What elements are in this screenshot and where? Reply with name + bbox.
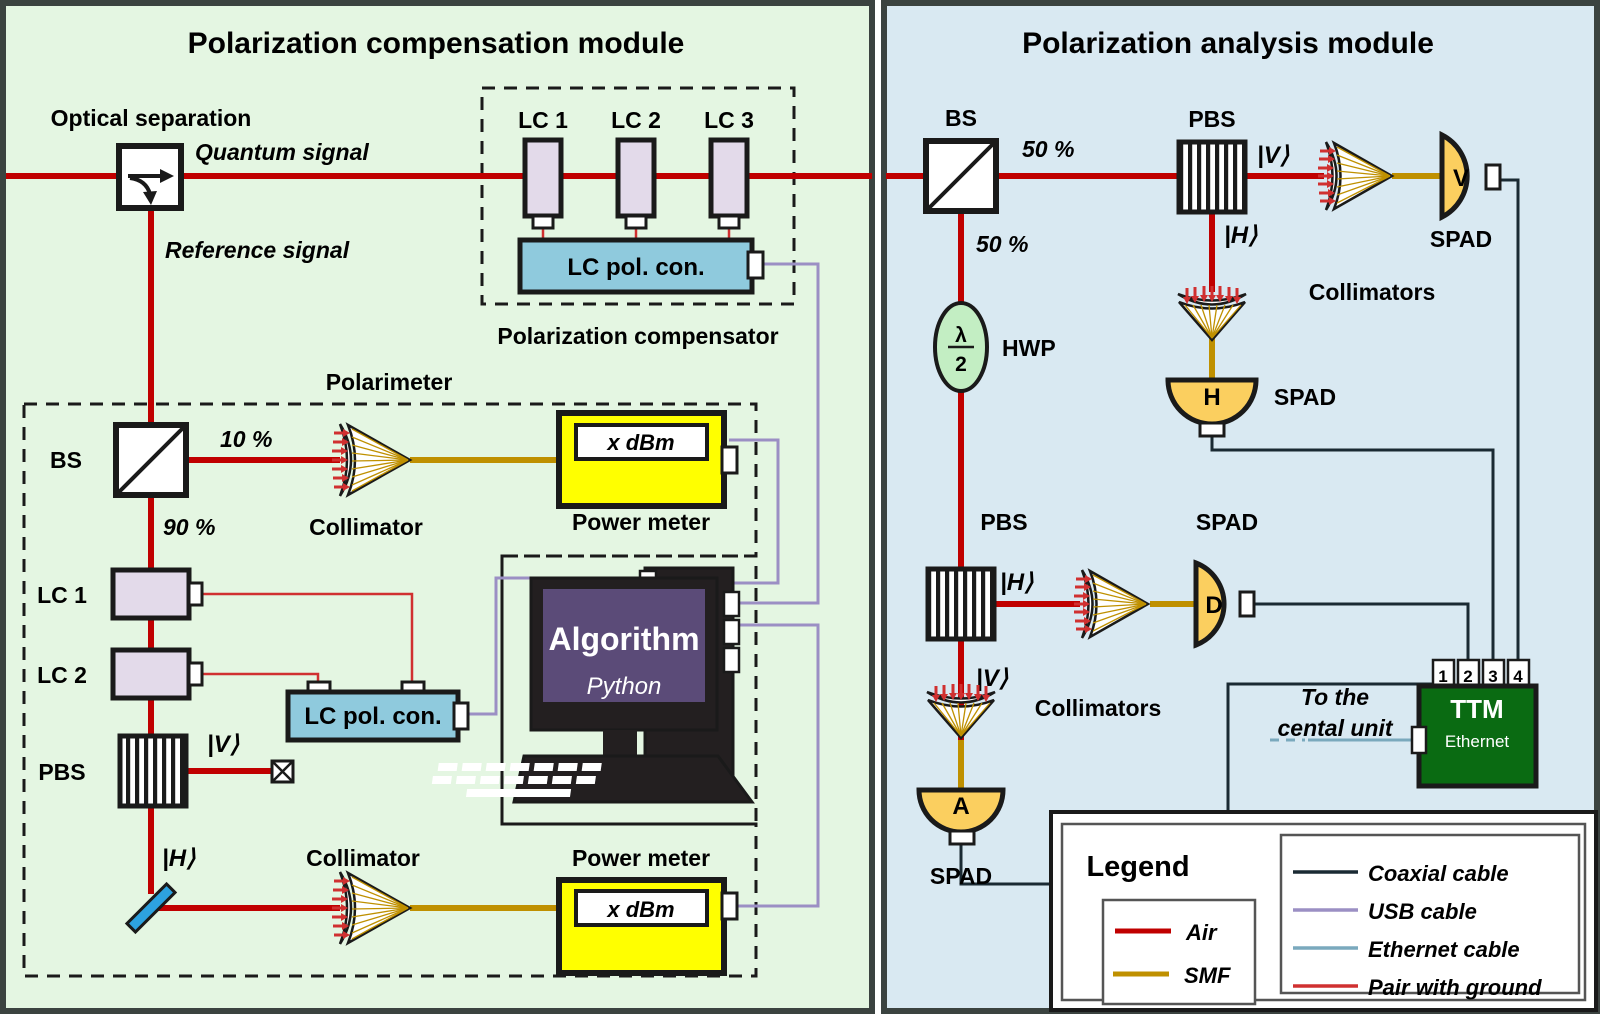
right-bs-split-reflected: 50 % <box>976 231 1028 257</box>
right-ket-v-bottom: |V⟩ <box>976 665 1009 692</box>
legend-label-smf: SMF <box>1184 963 1231 988</box>
spad-v-label: SPAD <box>1430 226 1492 252</box>
spad-d-letter: D <box>1205 592 1222 619</box>
lc-cell-2-top-label: LC 2 <box>611 107 661 133</box>
power-meter-top-reading: x dBm <box>606 430 674 455</box>
computer-screen-subtitle: Python <box>587 673 662 700</box>
polarimeter-split-10: 10 % <box>220 426 272 452</box>
ttm-interface-label: Ethernet <box>1445 732 1510 751</box>
lc-cell-2-top[interactable] <box>618 140 654 228</box>
right-bs-label: BS <box>945 105 977 131</box>
polarimeter-pbs[interactable] <box>120 736 186 806</box>
collimator-polarimeter-top-label: Collimator <box>309 514 423 540</box>
legend-label-coaxial: Coaxial cable <box>1368 861 1509 886</box>
power-meter-bottom-reading: x dBm <box>606 897 674 922</box>
power-meter-bottom-label: Power meter <box>572 845 710 871</box>
right-bs[interactable] <box>926 141 996 211</box>
legend-label-pair-with-ground: Pair with ground <box>1368 975 1542 1000</box>
polarimeter-group-label: Polarimeter <box>326 369 453 395</box>
polarimeter-pbs-label: PBS <box>38 759 85 785</box>
right-pbs-top-label: PBS <box>1188 106 1235 132</box>
lc-pol-con-polarimeter-label: LC pol. con. <box>304 703 441 730</box>
computer-screen-title: Algorithm <box>548 621 699 657</box>
ttm-port-4-label: 4 <box>1513 667 1523 686</box>
polarimeter-bs[interactable] <box>116 425 186 495</box>
power-meter-top-label: Power meter <box>572 509 710 535</box>
hwp[interactable] <box>935 303 987 391</box>
collimator-polarimeter-bottom-label: Collimator <box>306 845 420 871</box>
right-ket-h-top: |H⟩ <box>1224 222 1258 249</box>
power-meter-top[interactable] <box>559 413 737 506</box>
spad-v-letter: V <box>1453 165 1469 192</box>
figure-root: Polarization compensation module Polariz… <box>0 0 1600 1014</box>
hwp-symbol-lambda: λ <box>955 324 967 347</box>
right-bs-split-transmitted: 50 % <box>1022 136 1074 162</box>
polarimeter-ket-h: |H⟩ <box>162 845 196 872</box>
lc-cell-1-top[interactable] <box>525 140 561 228</box>
lc-cell-3-top[interactable] <box>711 140 747 228</box>
spad-a-label: SPAD <box>930 863 992 889</box>
right-pbs-bottom[interactable] <box>928 569 994 639</box>
right-pbs-bottom-label: PBS <box>980 509 1027 535</box>
legend-label-air: Air <box>1185 920 1218 945</box>
legend-label-ethernet: Ethernet cable <box>1368 937 1520 962</box>
ttm-name: TTM <box>1450 694 1503 724</box>
ttm-uplink-line2: cental unit <box>1277 715 1393 741</box>
panel-left-title: Polarization compensation module <box>188 27 685 60</box>
spad-h-letter: H <box>1203 384 1220 411</box>
polarimeter-lc-cell-1[interactable] <box>113 570 202 618</box>
lc-cell-3-top-label: LC 3 <box>704 107 754 133</box>
spad-d-label: SPAD <box>1196 509 1258 535</box>
ttm-port-1-label: 1 <box>1438 667 1447 686</box>
diagram-canvas: Polarization compensation module Polariz… <box>0 0 1600 1014</box>
computer-monitor[interactable] <box>531 578 717 756</box>
spad-a-letter: A <box>952 793 969 820</box>
hwp-symbol-two: 2 <box>955 353 967 376</box>
collimators-label-bottom: Collimators <box>1035 695 1162 721</box>
ttm-uplink-line1: To the <box>1301 684 1369 710</box>
polarization-compensator-group-label: Polarization compensator <box>497 323 778 349</box>
panel-right-title: Polarization analysis module <box>1022 27 1434 60</box>
ttm-port-3-label: 3 <box>1488 667 1497 686</box>
polarimeter-split-90: 90 % <box>163 514 215 540</box>
polarimeter-ket-v: |V⟩ <box>207 731 240 758</box>
lc-cell-1-top-label: LC 1 <box>518 107 568 133</box>
ttm-port-2-label: 2 <box>1463 667 1472 686</box>
optical-separation-label: Optical separation <box>51 105 252 131</box>
legend-label-usb: USB cable <box>1368 899 1477 924</box>
spad-h-label: SPAD <box>1274 384 1336 410</box>
right-pbs-top[interactable] <box>1179 142 1245 212</box>
polarimeter-lc-cell-2[interactable] <box>113 650 202 698</box>
polarimeter-bs-label: BS <box>50 447 82 473</box>
legend-optical-box <box>1103 900 1255 1004</box>
beam-dump-icon <box>272 761 293 782</box>
polarimeter-lc-cell-1-label: LC 1 <box>37 582 87 608</box>
quantum-signal-label: Quantum signal <box>195 139 369 165</box>
right-ket-v-top: |V⟩ <box>1257 142 1290 169</box>
polarimeter-lc-cell-2-label: LC 2 <box>37 662 87 688</box>
reference-signal-label: Reference signal <box>165 237 350 263</box>
hwp-label: HWP <box>1002 335 1056 361</box>
legend-title: Legend <box>1086 851 1189 883</box>
compensator-lc-cells <box>525 140 747 228</box>
right-ket-h-bottom: |H⟩ <box>1000 569 1034 596</box>
lc-pol-con-compensator-label: LC pol. con. <box>567 254 704 281</box>
power-meter-bottom[interactable] <box>559 880 737 973</box>
